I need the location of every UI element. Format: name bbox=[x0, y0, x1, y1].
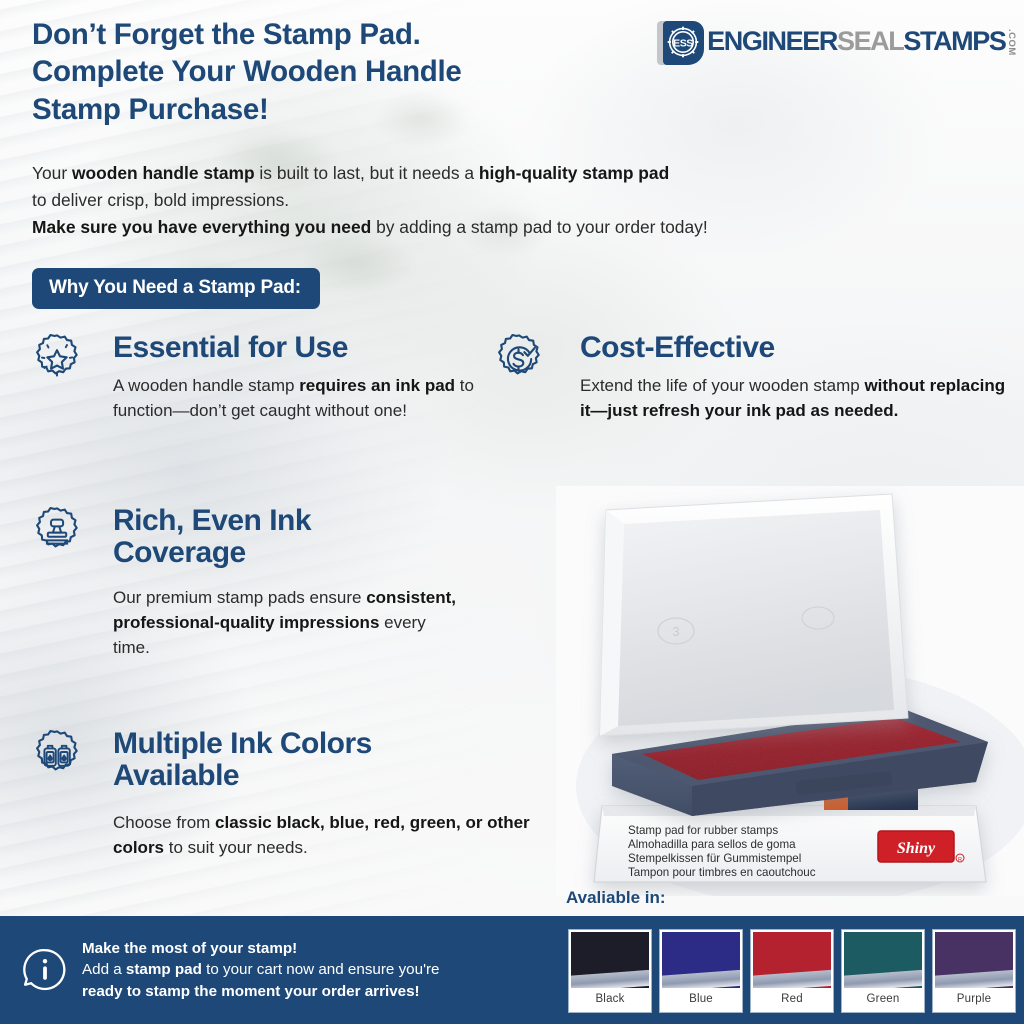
logo-word-stamps: STAMPS bbox=[903, 28, 1005, 55]
footer-line-3: ready to stamp the moment your order arr… bbox=[82, 981, 439, 1003]
swatch-label: Red bbox=[753, 988, 831, 1010]
swatch-black[interactable]: Black bbox=[569, 930, 651, 1012]
feature-title: Rich, Even Ink Coverage bbox=[113, 505, 458, 570]
badge-rubber-stamp-icon bbox=[28, 505, 86, 563]
feature-ink-colors: Multiple Ink Colors Available Choose fro… bbox=[28, 728, 548, 861]
intro-text: by adding a stamp pad to your order toda… bbox=[371, 217, 707, 237]
svg-text:R: R bbox=[958, 857, 962, 863]
intro-emphasis: Make sure you have everything you need bbox=[32, 217, 371, 237]
box-line-1: Stamp pad for rubber stamps bbox=[628, 824, 778, 837]
swatch-color-chip bbox=[571, 932, 649, 988]
footer-line-2: Add a stamp pad to your cart now and ens… bbox=[82, 959, 439, 981]
footer-emphasis: stamp pad bbox=[126, 961, 202, 978]
svg-text:3: 3 bbox=[672, 624, 679, 639]
info-bubble-icon bbox=[22, 947, 68, 993]
svg-text:Shiny: Shiny bbox=[897, 840, 936, 857]
infographic-root: Don’t Forget the Stamp Pad. Complete You… bbox=[0, 0, 1024, 1024]
shiny-brand-logo: Shiny R bbox=[878, 831, 964, 863]
swatch-color-chip bbox=[662, 932, 740, 988]
feature-title: Essential for Use bbox=[113, 332, 498, 364]
logo-tld: .COM bbox=[1007, 29, 1017, 56]
logo-word-seal: SEAL bbox=[837, 28, 903, 55]
footer-cta-bar: Make the most of your stamp! Add a stamp… bbox=[0, 916, 560, 1024]
feature-body-text: to suit your needs. bbox=[164, 838, 308, 857]
footer-headline: Make the most of your stamp! bbox=[82, 940, 297, 957]
logo-word-engineer: ENGINEER bbox=[707, 28, 837, 55]
feature-ink-coverage: Rich, Even Ink Coverage Our premium stam… bbox=[28, 505, 458, 661]
feature-body-text: A wooden handle stamp bbox=[113, 376, 299, 395]
swatch-red[interactable]: Red bbox=[751, 930, 833, 1012]
badge-star-icon bbox=[28, 332, 86, 390]
swatch-label: Purple bbox=[935, 988, 1013, 1010]
feature-title-line-2: Available bbox=[113, 759, 239, 792]
footer-text-span: Add a bbox=[82, 961, 126, 978]
intro-line-3: Make sure you have everything you need b… bbox=[32, 214, 912, 241]
footer-line-1: Make the most of your stamp! bbox=[82, 938, 439, 960]
gear-seal-icon: ESS bbox=[653, 17, 705, 67]
feature-body: Our premium stamp pads ensure consistent… bbox=[113, 586, 458, 661]
intro-text: Your bbox=[32, 163, 72, 183]
product-photo-stamp-pad: Stamp pad for rubber stamps Almohadilla … bbox=[556, 486, 1024, 896]
swatch-label: Black bbox=[571, 988, 649, 1010]
headline-line-1: Don’t Forget the Stamp Pad. bbox=[32, 16, 642, 53]
section-banner: Why You Need a Stamp Pad: bbox=[32, 268, 320, 309]
headline-line-2: Complete Your Wooden Handle bbox=[32, 53, 642, 90]
footer-text-span: to your cart now and ensure you're bbox=[202, 961, 440, 978]
box-line-2: Almohadilla para sellos de goma bbox=[628, 838, 796, 851]
headline-line-3: Stamp Purchase! bbox=[32, 91, 642, 128]
feature-body-text: Our premium stamp pads ensure bbox=[113, 588, 366, 607]
feature-body-text: Extend the life of your wooden stamp bbox=[580, 376, 864, 395]
feature-body: Choose from classic black, blue, red, gr… bbox=[113, 811, 548, 861]
swatch-purple[interactable]: Purple bbox=[933, 930, 1015, 1012]
intro-line-2: to deliver crisp, bold impressions. bbox=[32, 187, 912, 214]
swatch-color-chip bbox=[935, 932, 1013, 988]
intro-paragraph: Your wooden handle stamp is built to las… bbox=[32, 160, 912, 241]
swatch-blue[interactable]: Blue bbox=[660, 930, 742, 1012]
feature-title-line-1: Rich, Even Ink bbox=[113, 504, 311, 537]
feature-essential-for-use: Essential for Use A wooden handle stamp … bbox=[28, 332, 498, 424]
feature-cost-effective: Cost-Effective Extend the life of your w… bbox=[490, 332, 1010, 424]
intro-text: is built to last, but it needs a bbox=[255, 163, 479, 183]
swatch-color-chip bbox=[844, 932, 922, 988]
feature-title: Multiple Ink Colors Available bbox=[113, 728, 548, 793]
swatch-label: Green bbox=[844, 988, 922, 1010]
feature-body: Extend the life of your wooden stamp wit… bbox=[580, 374, 1010, 424]
intro-line-1: Your wooden handle stamp is built to las… bbox=[32, 160, 912, 187]
swatch-label: Blue bbox=[662, 988, 740, 1010]
svg-text:ESS: ESS bbox=[673, 38, 693, 50]
available-in-title: Avaliable in: bbox=[566, 888, 666, 908]
brand-logo[interactable]: ESS ENGINEER SEAL STAMPS .COM bbox=[653, 18, 1016, 66]
intro-emphasis: high-quality stamp pad bbox=[479, 163, 669, 183]
footer-emphasis: ready to stamp the moment your order arr… bbox=[82, 983, 420, 1000]
feature-body-text: Choose from bbox=[113, 813, 215, 832]
swatch-color-chip bbox=[753, 932, 831, 988]
feature-title-line-1: Multiple Ink Colors bbox=[113, 727, 372, 760]
footer-text: Make the most of your stamp! Add a stamp… bbox=[82, 938, 439, 1003]
color-swatch-strip: Black Blue Red Green Purple bbox=[560, 916, 1024, 1024]
box-line-3: Stempelkissen für Gummistempel bbox=[628, 852, 801, 865]
logo-wordmark: ENGINEER SEAL STAMPS .COM bbox=[707, 28, 1016, 56]
swatch-green[interactable]: Green bbox=[842, 930, 924, 1012]
feature-body: A wooden handle stamp requires an ink pa… bbox=[113, 374, 498, 424]
badge-dollar-check-icon bbox=[490, 332, 548, 390]
feature-title-line-2: Coverage bbox=[113, 536, 246, 569]
page-headline: Don’t Forget the Stamp Pad. Complete You… bbox=[32, 16, 642, 128]
feature-body-emphasis: requires an ink pad bbox=[299, 376, 455, 395]
badge-ink-bottles-icon bbox=[28, 728, 86, 786]
box-line-4: Tampon pour timbres en caoutchouc bbox=[628, 866, 816, 879]
feature-title: Cost-Effective bbox=[580, 332, 1010, 364]
intro-emphasis: wooden handle stamp bbox=[72, 163, 255, 183]
